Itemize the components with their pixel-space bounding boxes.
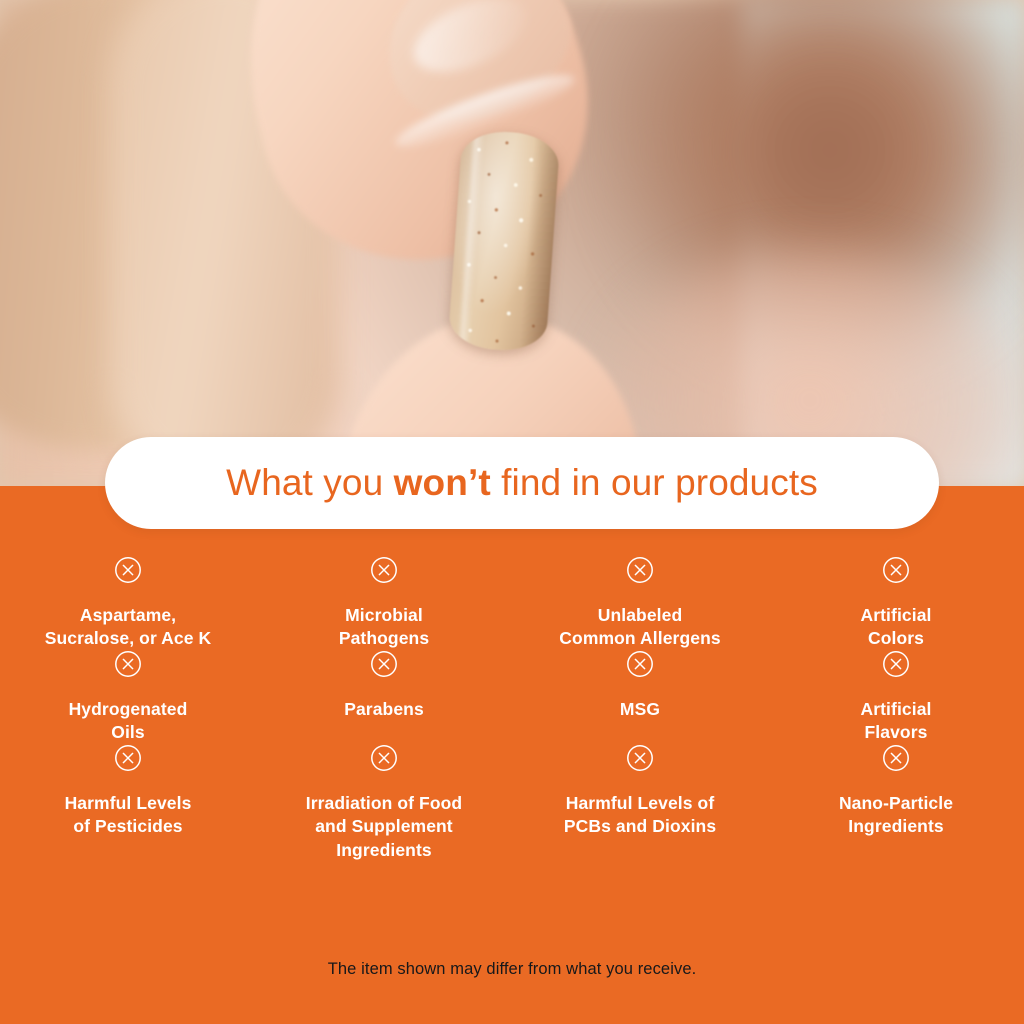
exclusion-item: Aspartame, Sucralose, or Ace K	[0, 556, 256, 650]
exclusion-item: MSG	[512, 650, 768, 744]
exclusions-grid: Aspartame, Sucralose, or Ace K Microbial…	[0, 556, 1024, 862]
circle-x-icon	[626, 744, 654, 772]
exclusion-item: Harmful Levels of PCBs and Dioxins	[512, 744, 768, 861]
exclusion-item: Hydrogenated Oils	[0, 650, 256, 744]
exclusion-item: Microbial Pathogens	[256, 556, 512, 650]
exclusion-label: Artificial Colors	[860, 604, 931, 650]
headline-part-after: find in our products	[491, 462, 818, 503]
disclaimer-text: The item shown may differ from what you …	[0, 960, 1024, 979]
exclusion-label: Parabens	[344, 698, 424, 721]
circle-x-icon	[114, 650, 142, 678]
exclusion-label: Aspartame, Sucralose, or Ace K	[45, 604, 212, 650]
circle-x-icon	[370, 744, 398, 772]
headline-part-before: What you	[226, 462, 393, 503]
circle-x-icon	[370, 556, 398, 584]
exclusion-item: Harmful Levels of Pesticides	[0, 744, 256, 861]
exclusion-label: Harmful Levels of Pesticides	[65, 792, 192, 838]
exclusion-label: Unlabeled Common Allergens	[559, 604, 720, 650]
exclusion-label: Irradiation of Food and Supplement Ingre…	[306, 792, 462, 861]
circle-x-icon	[882, 556, 910, 584]
exclusion-item: Nano-Particle Ingredients	[768, 744, 1024, 861]
exclusion-item: Unlabeled Common Allergens	[512, 556, 768, 650]
circle-x-icon	[370, 650, 398, 678]
exclusion-label: Microbial Pathogens	[339, 604, 429, 650]
circle-x-icon	[882, 650, 910, 678]
circle-x-icon	[626, 556, 654, 584]
headline-emphasis: won’t	[394, 462, 491, 503]
circle-x-icon	[626, 650, 654, 678]
circle-x-icon	[114, 556, 142, 584]
exclusion-label: Nano-Particle Ingredients	[839, 792, 953, 838]
supplement-tablet	[448, 129, 561, 353]
exclusion-item: Parabens	[256, 650, 512, 744]
page-title: What you won’t find in our products	[226, 462, 818, 504]
exclusion-item: Irradiation of Food and Supplement Ingre…	[256, 744, 512, 861]
headline-pill: What you won’t find in our products	[105, 437, 939, 529]
exclusion-item: Artificial Colors	[768, 556, 1024, 650]
circle-x-icon	[882, 744, 910, 772]
exclusion-label: Hydrogenated Oils	[69, 698, 188, 744]
exclusion-label: Artificial Flavors	[860, 698, 931, 744]
exclusion-label: MSG	[620, 698, 660, 721]
exclusion-label: Harmful Levels of PCBs and Dioxins	[564, 792, 716, 838]
circle-x-icon	[114, 744, 142, 772]
product-photo	[0, 0, 1024, 486]
exclusion-item: Artificial Flavors	[768, 650, 1024, 744]
